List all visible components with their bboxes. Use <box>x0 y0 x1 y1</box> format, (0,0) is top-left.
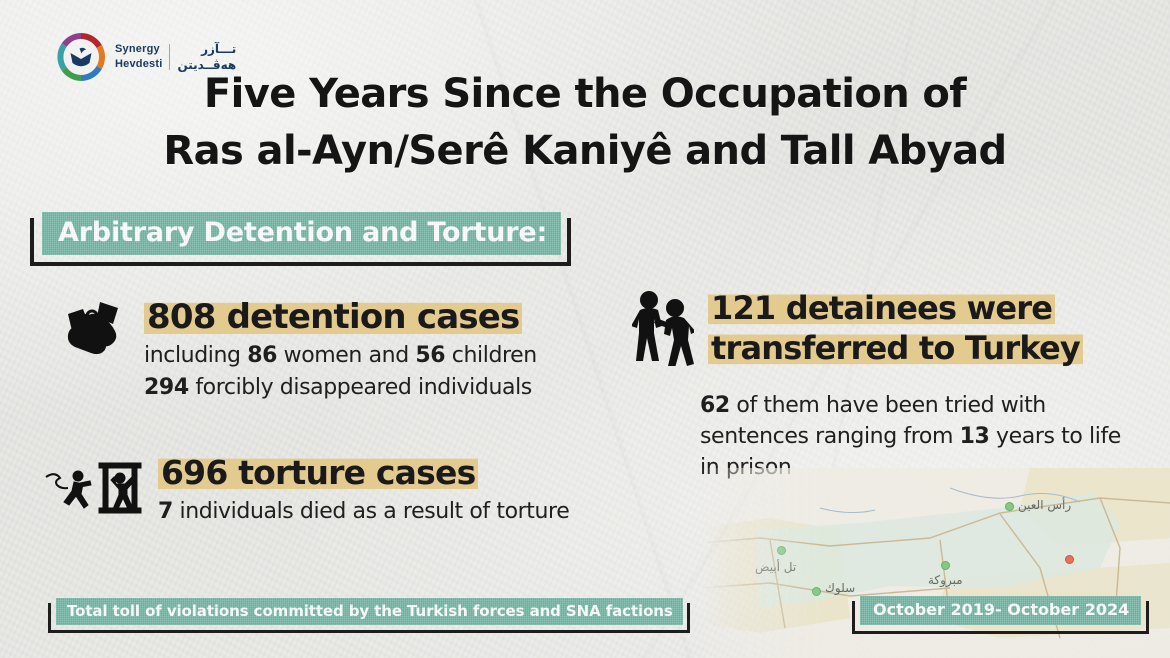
map-label-tall-abyad: تل أبيض <box>755 560 796 574</box>
section-header: Arbitrary Detention and Torture: <box>42 212 561 255</box>
detentions-women-count: 86 <box>247 343 277 368</box>
footer-date: October 2019- October 2024 <box>860 596 1141 625</box>
detentions-headline: 808 detention cases <box>144 298 522 336</box>
torture-sub-line: 7 individuals died as a result of tortur… <box>158 497 569 527</box>
detentions-children-count: 56 <box>415 343 445 368</box>
detentions-sub1-mid: women and <box>277 343 415 368</box>
map-marker-mabrouka <box>941 561 950 570</box>
detentions-sub1-pre: including <box>144 343 247 368</box>
detentions-number: 808 <box>147 297 216 337</box>
torture-whipping-icon <box>44 455 144 522</box>
map-marker-highlight <box>1065 555 1074 564</box>
disappeared-count: 294 <box>144 375 189 400</box>
map-marker-suluk <box>812 587 821 596</box>
stat-transfers-to-turkey: 121 detainees were transferred to Turkey <box>632 288 1083 371</box>
detainee-escort-icon <box>632 288 694 371</box>
map-marker-tall-abyad <box>777 546 786 555</box>
stat-torture-cases: 696 torture cases 7 individuals died as … <box>44 455 569 527</box>
transfers-headline: 121 detainees were transferred to Turkey <box>708 288 1083 369</box>
section-header-label: Arbitrary Detention and Torture: <box>42 212 561 255</box>
title-line-1: Five Years Since the Occupation of <box>0 66 1170 123</box>
map-marker-ras-al-ayn <box>1005 502 1014 511</box>
disappeared-label: forcibly disappeared individuals <box>189 375 532 400</box>
detentions-sub-line-2: 294 forcibly disappeared individuals <box>144 373 537 403</box>
transfers-label-line2: transferred to Turkey <box>708 329 1083 367</box>
map-label-ras-al-ayn: رأس العين <box>1018 498 1071 512</box>
handcuffed-hands-icon <box>56 298 130 367</box>
title-line-2: Ras al-Ayn/Serê Kaniyê and Tall Abyad <box>0 123 1170 180</box>
footer-note-label: Total toll of violations committed by th… <box>56 598 683 625</box>
torture-headline: 696 torture cases <box>158 455 478 492</box>
detentions-label: detention cases <box>227 297 520 337</box>
sentence-years: 13 <box>960 424 990 449</box>
footer-note: Total toll of violations committed by th… <box>56 598 683 625</box>
logo-name-latin-1: Synergy <box>115 43 160 55</box>
transfers-label-line1: detainees were <box>786 289 1052 327</box>
torture-deaths-label: individuals died as a result of torture <box>173 499 569 524</box>
stat-detention-cases: 808 detention cases including 86 women a… <box>56 298 537 404</box>
transfers-number: 121 <box>711 289 775 327</box>
map-label-mabrouka: مبروكة <box>928 573 963 587</box>
footer-date-label: October 2019- October 2024 <box>860 596 1141 625</box>
logo-name-arabic-1: تـــآزر <box>201 42 236 56</box>
tried-count: 62 <box>700 393 730 418</box>
map-label-suluk: سلوك <box>825 581 855 595</box>
detentions-sub-line-1: including 86 women and 56 children <box>144 341 537 371</box>
detentions-sub1-post: children <box>445 343 537 368</box>
torture-number: 696 <box>161 453 227 492</box>
torture-label: torture cases <box>238 453 475 492</box>
page-title: Five Years Since the Occupation of Ras a… <box>0 66 1170 180</box>
torture-deaths-count: 7 <box>158 499 173 524</box>
